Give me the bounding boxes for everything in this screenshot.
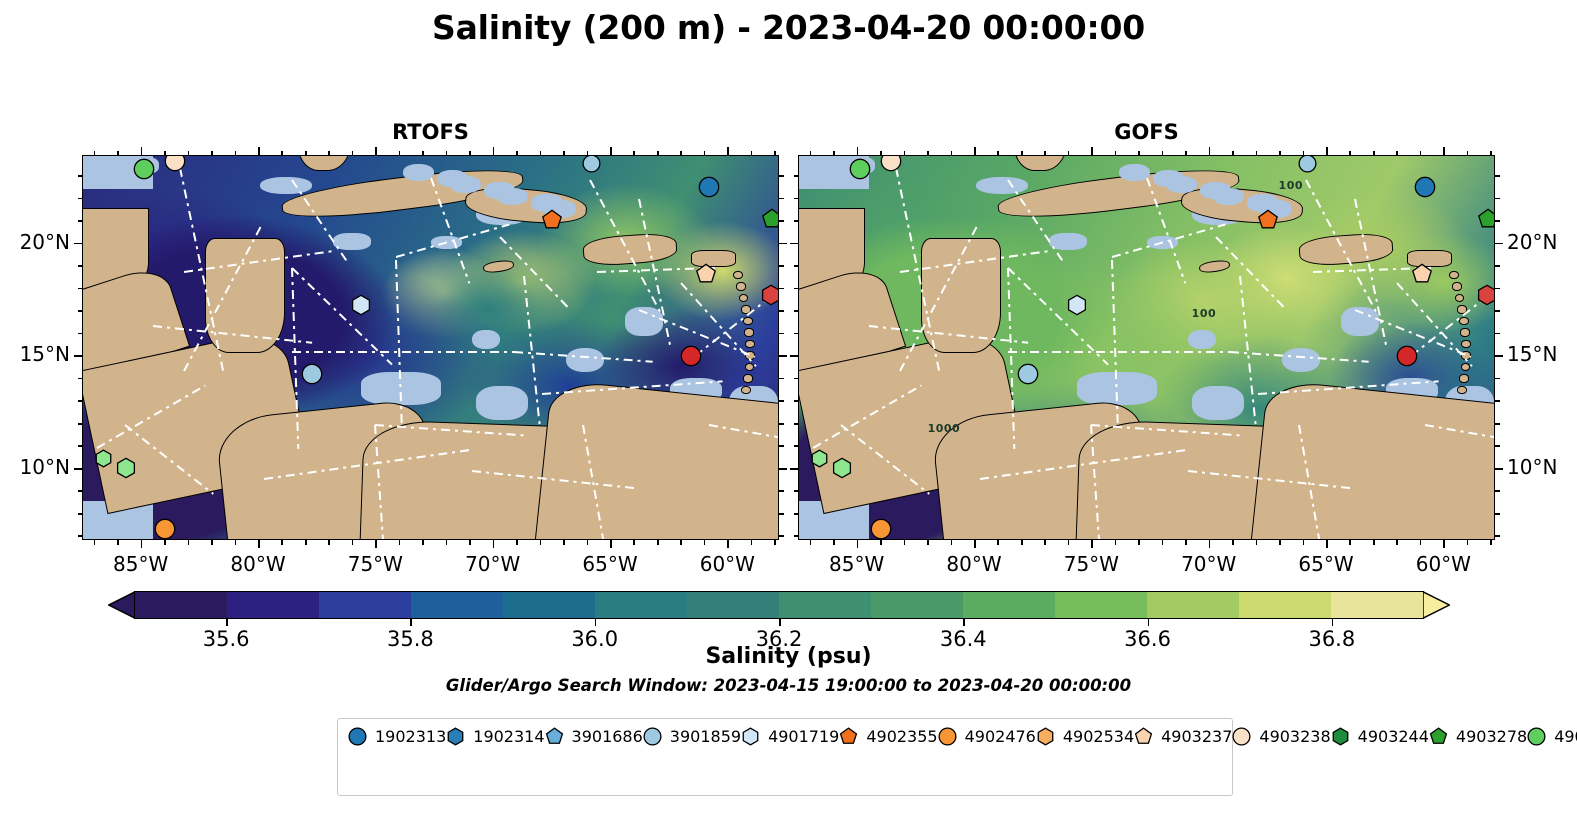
x-axis-tick-top — [751, 151, 753, 156]
legend-item-label: 1902313 — [375, 727, 446, 746]
x-axis-tick — [1467, 540, 1469, 545]
x-axis-tick — [1303, 540, 1305, 545]
y-axis-tick-left — [794, 175, 799, 177]
bathymetry-contour-label: 100 — [1279, 179, 1303, 192]
y-axis-tick-right — [779, 378, 784, 380]
x-axis-tick — [141, 540, 143, 548]
x-axis-tick — [1115, 540, 1117, 545]
map-marker-4903238[interactable] — [880, 155, 902, 172]
colorbar-band-4 — [503, 592, 595, 618]
x-axis-tick-top — [1490, 151, 1492, 156]
y-axis-tick-left — [794, 490, 799, 492]
map-marker-4901719[interactable] — [350, 294, 372, 316]
shelf-shallow-water — [1192, 386, 1244, 420]
y-axis-tick-left — [78, 400, 83, 402]
colorbar: 35.635.836.036.236.436.636.8 — [108, 591, 1450, 619]
x-axis-tick-top — [540, 151, 542, 156]
y-axis-label-right: 15°N — [1507, 342, 1577, 366]
bahamas-bank — [1166, 176, 1197, 193]
x-axis-tick-top — [164, 151, 166, 156]
y-axis-label-left: 15°N — [0, 342, 70, 366]
x-axis-tick — [281, 540, 283, 545]
y-axis-tick-right — [779, 513, 784, 515]
y-axis-tick-right — [779, 355, 787, 357]
x-axis-tick-top — [974, 147, 976, 155]
x-axis-tick-top — [1115, 151, 1117, 156]
x-axis-tick — [164, 540, 166, 545]
legend-item-4902355[interactable]: 4902355 — [839, 726, 937, 748]
map-marker-3901859[interactable] — [301, 363, 323, 385]
colorbar-band-3 — [411, 592, 503, 618]
colorbar-band-8 — [871, 592, 963, 618]
x-axis-tick-top — [422, 151, 424, 156]
shelf-shallow-water — [260, 177, 312, 194]
island-lesser-antilles — [1461, 340, 1471, 348]
x-axis-label: 85°W — [807, 552, 907, 576]
x-axis-tick — [211, 540, 213, 545]
x-axis-tick — [563, 540, 565, 545]
map-marker-5906480[interactable] — [115, 457, 137, 479]
y-axis-tick-left — [794, 288, 799, 290]
y-axis-tick-left — [78, 220, 83, 222]
map-marker-6903111[interactable] — [760, 284, 779, 306]
y-axis-tick-right — [779, 535, 784, 537]
y-axis-tick-right — [779, 198, 784, 200]
x-axis-tick — [1162, 540, 1164, 545]
x-axis-tick-top — [281, 151, 283, 156]
x-axis-label: 65°W — [560, 552, 660, 576]
y-axis-tick-left — [78, 288, 83, 290]
x-axis-tick — [235, 540, 237, 545]
legend-marker-pentagon-icon — [1429, 727, 1448, 746]
y-axis-tick-right — [1495, 333, 1500, 335]
search-window-caption: Glider/Argo Search Window: 2023-04-15 19… — [0, 676, 1577, 695]
y-axis-label-left: 20°N — [0, 230, 70, 254]
colorbar-tick — [595, 619, 597, 626]
y-axis-tick-left — [794, 333, 799, 335]
map-marker-4903354[interactable] — [849, 158, 871, 180]
x-axis-tick-top — [633, 151, 635, 156]
bathymetry-contour-label: 100 — [1192, 307, 1216, 320]
x-axis-tick — [657, 540, 659, 545]
x-axis-label: 75°W — [1041, 552, 1141, 576]
x-axis-tick-top — [1044, 151, 1046, 156]
legend-item-4902534[interactable]: 4902534 — [1036, 726, 1134, 748]
map-marker-6904223[interactable] — [1396, 345, 1418, 367]
legend-marker-circle-icon — [1232, 727, 1251, 746]
x-axis-tick-top — [469, 151, 471, 156]
figure-root: Salinity (200 m) - 2023-04-20 00:00:00 R… — [0, 0, 1577, 827]
panel-title-rtofs: RTOFS — [82, 120, 779, 144]
x-axis-tick-top — [857, 147, 859, 155]
x-axis-tick — [1138, 540, 1140, 545]
x-axis-tick — [1396, 540, 1398, 545]
y-axis-tick-right — [1495, 400, 1500, 402]
legend-item-label: 4902355 — [866, 727, 937, 746]
x-axis-tick-top — [258, 147, 260, 155]
island-lesser-antilles — [1449, 271, 1459, 279]
y-axis-tick-left — [790, 468, 798, 470]
map-marker-5906480[interactable] — [831, 457, 853, 479]
legend-marker-hexagon-icon — [446, 727, 465, 746]
y-axis-tick-left — [794, 423, 799, 425]
x-axis-tick-top — [1232, 151, 1234, 156]
colorbar-gradient — [134, 591, 1424, 619]
shelf-shallow-water — [976, 177, 1028, 194]
x-axis-label: 80°W — [924, 552, 1024, 576]
x-axis-tick — [833, 540, 835, 545]
legend-item-4902476[interactable]: 4902476 — [938, 726, 1036, 748]
legend-item-label: 4903244 — [1358, 727, 1429, 746]
x-axis-tick-top — [1467, 151, 1469, 156]
x-axis-tick — [1209, 540, 1211, 548]
colorbar-band-5 — [595, 592, 687, 618]
x-axis-tick — [997, 540, 999, 545]
x-axis-tick — [1373, 540, 1375, 545]
y-axis-tick-left — [794, 220, 799, 222]
legend-item-label: 3901859 — [670, 727, 741, 746]
x-axis-tick-top — [1068, 151, 1070, 156]
y-axis-tick-right — [779, 243, 787, 245]
map-marker-3901859[interactable] — [582, 155, 601, 173]
y-axis-tick-left — [78, 535, 83, 537]
y-axis-tick-left — [78, 333, 83, 335]
x-axis-tick-top — [188, 151, 190, 156]
x-axis-tick-top — [94, 151, 96, 156]
island-lesser-antilles — [745, 340, 755, 348]
x-axis-tick — [680, 540, 682, 545]
legend-item-4903278[interactable]: 4903278 — [1429, 726, 1527, 748]
x-axis-tick-top — [1091, 147, 1093, 155]
colorbar-band-11 — [1147, 592, 1239, 618]
y-axis-tick-left — [78, 265, 83, 267]
colorbar-tick — [1332, 619, 1334, 626]
legend-marker-pentagon-icon — [545, 727, 564, 746]
x-axis-tick — [258, 540, 260, 548]
legend-item-4903244[interactable]: 4903244 — [1331, 726, 1429, 748]
x-axis-tick-top — [1279, 151, 1281, 156]
map-marker-4903278[interactable] — [761, 208, 779, 230]
x-axis-tick-top — [235, 151, 237, 156]
y-axis-tick-right — [779, 265, 784, 267]
map-marker-3901859[interactable] — [1298, 155, 1317, 173]
map-marker-5906478[interactable] — [810, 449, 829, 468]
x-axis-tick-top — [328, 151, 330, 156]
x-axis-tick-top — [211, 151, 213, 156]
map-marker-3901859[interactable] — [1017, 363, 1039, 385]
shelf-shallow-water — [476, 386, 528, 420]
colorbar-extend-low-arrow — [108, 591, 135, 619]
y-axis-label-right: 20°N — [1507, 230, 1577, 254]
map-marker-5906478[interactable] — [94, 449, 113, 468]
y-axis-tick-right — [1495, 243, 1503, 245]
shelf-shallow-water — [1188, 330, 1216, 349]
y-axis-tick-right — [1495, 310, 1500, 312]
x-axis-tick — [305, 540, 307, 545]
legend-item-1902314[interactable]: 1902314 — [446, 726, 544, 748]
y-axis-tick-left — [78, 378, 83, 380]
x-axis-tick-top — [141, 147, 143, 155]
y-axis-tick-right — [1495, 198, 1500, 200]
x-axis-label: 60°W — [677, 552, 777, 576]
x-axis-tick — [1068, 540, 1070, 545]
x-axis-tick — [951, 540, 953, 545]
x-axis-tick — [94, 540, 96, 545]
map-marker-4901719[interactable] — [1066, 294, 1088, 316]
colorbar-band-13 — [1331, 592, 1423, 618]
map-marker-4903278[interactable] — [1477, 208, 1495, 230]
colorbar-label: Salinity (psu) — [0, 644, 1577, 669]
bathymetry-contour-label: 1000 — [928, 422, 961, 435]
x-axis-tick-top — [587, 151, 589, 156]
y-axis-tick-right — [779, 445, 784, 447]
colorbar-band-9 — [963, 592, 1055, 618]
eez-boundary-line — [1008, 351, 1231, 353]
map-marker-1902313[interactable] — [698, 176, 720, 198]
x-axis-tick-top — [951, 151, 953, 156]
y-axis-tick-left — [790, 355, 798, 357]
legend-item-label: 1902314 — [473, 727, 544, 746]
legend-item-4903238[interactable]: 4903238 — [1232, 726, 1330, 748]
x-axis-tick-top — [880, 151, 882, 156]
x-axis-tick — [1044, 540, 1046, 545]
colorbar-tick — [410, 619, 412, 626]
x-axis-tick-top — [375, 147, 377, 155]
legend-marker-hexagon-icon — [1331, 727, 1350, 746]
y-axis-tick-right — [1495, 468, 1503, 470]
x-axis-label: 70°W — [443, 552, 543, 576]
legend-item-label: 4903278 — [1456, 727, 1527, 746]
x-axis-tick — [1326, 540, 1328, 548]
x-axis-tick — [516, 540, 518, 545]
colorbar-band-12 — [1239, 592, 1331, 618]
y-axis-tick-right — [779, 400, 784, 402]
x-axis-tick-top — [833, 151, 835, 156]
x-axis-tick — [774, 540, 776, 545]
x-axis-tick-top — [305, 151, 307, 156]
colorbar-band-0 — [135, 592, 227, 618]
x-axis-tick-top — [1021, 151, 1023, 156]
x-axis-tick — [1443, 540, 1445, 548]
shelf-shallow-water — [1282, 348, 1320, 373]
y-axis-tick-right — [1495, 265, 1500, 267]
x-axis-label: 85°W — [91, 552, 191, 576]
y-axis-tick-right — [779, 310, 784, 312]
map-marker-4903237[interactable] — [695, 263, 717, 285]
y-axis-tick-right — [779, 468, 787, 470]
x-axis-tick — [399, 540, 401, 545]
x-axis-tick — [810, 540, 812, 545]
y-axis-tick-right — [779, 288, 784, 290]
y-axis-tick-right — [1495, 175, 1500, 177]
legend-item-3901686[interactable]: 3901686 — [545, 726, 643, 748]
y-axis-tick-left — [78, 310, 83, 312]
colorbar-band-7 — [779, 592, 871, 618]
island-lesser-antilles — [1452, 282, 1462, 290]
x-axis-tick-top — [1303, 151, 1305, 156]
island-lesser-antilles — [744, 328, 754, 336]
x-axis-tick-top — [1209, 147, 1211, 155]
x-axis-tick — [352, 540, 354, 545]
x-axis-tick — [1232, 540, 1234, 545]
legend-marker-hexagon-icon — [741, 727, 760, 746]
x-axis-tick-top — [493, 147, 495, 155]
y-axis-tick-left — [78, 198, 83, 200]
x-axis-tick — [1490, 540, 1492, 545]
y-axis-tick-left — [794, 378, 799, 380]
map-marker-1902313[interactable] — [1414, 176, 1436, 198]
x-axis-tick — [1091, 540, 1093, 548]
x-axis-tick-top — [1420, 151, 1422, 156]
y-axis-tick-left — [794, 535, 799, 537]
x-axis-tick-top — [927, 151, 929, 156]
x-axis-tick-top — [352, 151, 354, 156]
shelf-shallow-water — [472, 330, 500, 349]
y-axis-tick-right — [779, 175, 784, 177]
legend-item-4903354[interactable]: 4903354 — [1527, 726, 1577, 748]
bahamas-bank — [450, 176, 481, 193]
legend-item-3901859[interactable]: 3901859 — [643, 726, 741, 748]
x-axis-label: 80°W — [208, 552, 308, 576]
eez-boundary-line — [292, 351, 515, 353]
y-axis-tick-left — [78, 423, 83, 425]
x-axis-tick-top — [1326, 147, 1328, 155]
x-axis-tick — [974, 540, 976, 548]
x-axis-tick — [927, 540, 929, 545]
x-axis-tick — [1349, 540, 1351, 545]
x-axis-tick — [422, 540, 424, 545]
island-lesser-antilles — [736, 282, 746, 290]
island-lesser-antilles — [741, 386, 751, 394]
y-axis-tick-right — [1495, 288, 1500, 290]
colorbar-band-2 — [319, 592, 411, 618]
legend-marker-circle-icon — [643, 727, 662, 746]
colorbar-band-10 — [1055, 592, 1147, 618]
landmass — [1249, 379, 1495, 540]
legend-marker-circle-icon — [938, 727, 957, 746]
y-axis-tick-left — [794, 445, 799, 447]
page-title: Salinity (200 m) - 2023-04-20 00:00:00 — [0, 8, 1577, 47]
legend-item-1902313[interactable]: 1902313 — [348, 726, 446, 748]
x-axis-tick — [493, 540, 495, 548]
x-axis-tick — [1420, 540, 1422, 545]
x-axis-tick-top — [563, 151, 565, 156]
x-axis-tick — [587, 540, 589, 545]
y-axis-tick-left — [794, 198, 799, 200]
x-axis-tick — [904, 540, 906, 545]
y-axis-tick-left — [74, 243, 82, 245]
legend-marker-pentagon-icon — [1134, 727, 1153, 746]
y-axis-tick-right — [779, 423, 784, 425]
y-axis-tick-right — [1495, 490, 1500, 492]
x-axis-tick — [1021, 540, 1023, 545]
map-marker-4903237[interactable] — [1411, 263, 1433, 285]
map-marker-4903238[interactable] — [164, 155, 186, 172]
colorbar-tick — [226, 619, 228, 626]
x-axis-tick-top — [680, 151, 682, 156]
x-axis-tick — [117, 540, 119, 545]
y-axis-tick-left — [74, 355, 82, 357]
island-lesser-antilles — [1460, 328, 1470, 336]
legend-item-4903237[interactable]: 4903237 — [1134, 726, 1232, 748]
y-axis-tick-left — [78, 175, 83, 177]
map-marker-6903111[interactable] — [1476, 284, 1495, 306]
panel-title-gofs: GOFS — [798, 120, 1495, 144]
x-axis-tick-top — [1396, 151, 1398, 156]
y-axis-tick-right — [779, 333, 784, 335]
x-axis-tick-top — [117, 151, 119, 156]
colorbar-tick — [963, 619, 965, 626]
x-axis-tick-top — [1256, 151, 1258, 156]
x-axis-tick-top — [727, 147, 729, 155]
x-axis-tick — [704, 540, 706, 545]
y-axis-tick-left — [78, 513, 83, 515]
x-axis-tick — [188, 540, 190, 545]
map-marker-4902355[interactable] — [541, 209, 563, 231]
map-marker-6904223[interactable] — [680, 345, 702, 367]
island-lesser-antilles — [733, 271, 743, 279]
x-axis-tick-top — [516, 151, 518, 156]
x-axis-tick — [540, 540, 542, 545]
y-axis-tick-right — [1495, 513, 1500, 515]
colorbar-band-1 — [227, 592, 319, 618]
y-axis-tick-left — [790, 243, 798, 245]
legend-item-4901719[interactable]: 4901719 — [741, 726, 839, 748]
map-marker-4902476[interactable] — [870, 518, 892, 540]
x-axis-tick — [1185, 540, 1187, 545]
x-axis-tick — [375, 540, 377, 548]
y-axis-tick-right — [1495, 535, 1500, 537]
legend-item-label: 3901686 — [572, 727, 643, 746]
x-axis-tick-top — [1373, 151, 1375, 156]
y-axis-tick-left — [794, 310, 799, 312]
x-axis-tick-top — [904, 151, 906, 156]
legend-item-label: 4902476 — [965, 727, 1036, 746]
map-marker-4903354[interactable] — [133, 158, 155, 180]
y-axis-label-left: 10°N — [0, 455, 70, 479]
map-panel-gofs[interactable]: 1000100100 — [798, 155, 1495, 540]
x-axis-tick-top — [1185, 151, 1187, 156]
y-axis-tick-left — [78, 445, 83, 447]
colorbar-tick — [779, 619, 781, 626]
map-marker-4902355[interactable] — [1257, 209, 1279, 231]
x-axis-tick — [610, 540, 612, 548]
y-axis-tick-right — [1495, 445, 1500, 447]
y-axis-tick-left — [794, 265, 799, 267]
x-axis-tick-top — [610, 147, 612, 155]
landmass — [533, 379, 779, 540]
y-axis-tick-right — [779, 220, 784, 222]
y-axis-tick-right — [1495, 423, 1500, 425]
x-axis-label: 60°W — [1393, 552, 1493, 576]
x-axis-tick — [751, 540, 753, 545]
map-marker-4902476[interactable] — [154, 518, 176, 540]
x-axis-tick-top — [774, 151, 776, 156]
island-lesser-antilles — [1459, 374, 1469, 382]
x-axis-tick-top — [1349, 151, 1351, 156]
shelf-shallow-water — [566, 348, 604, 373]
x-axis-tick-top — [399, 151, 401, 156]
legend-item-label: 4901719 — [768, 727, 839, 746]
map-panel-rtofs[interactable] — [82, 155, 779, 540]
legend-marker-hexagon-icon — [1036, 727, 1055, 746]
colorbar-tick — [1148, 619, 1150, 626]
x-axis-tick-top — [810, 151, 812, 156]
y-axis-tick-right — [1495, 355, 1503, 357]
x-axis-tick-top — [446, 151, 448, 156]
platform-legend: 1902313190231439016863901859490171949023… — [337, 718, 1233, 796]
x-axis-tick — [727, 540, 729, 548]
